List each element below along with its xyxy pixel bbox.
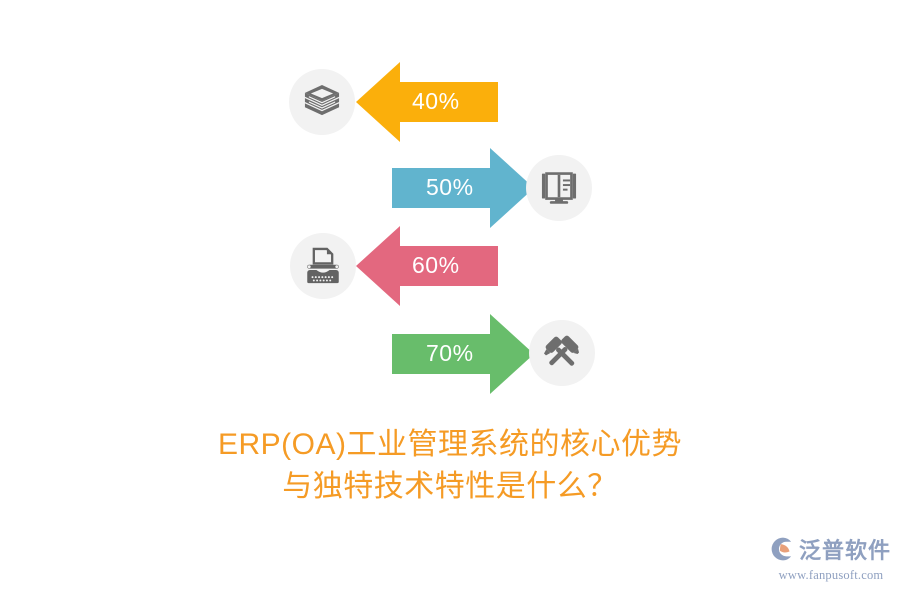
typewriter-icon-badge bbox=[290, 233, 356, 299]
page-title-line-2: 与独特技术特性是什么？ bbox=[0, 466, 900, 508]
watermark-brand-name: 泛普软件 bbox=[799, 540, 891, 562]
crossed-hammers-icon bbox=[540, 331, 584, 375]
arrow-label-70: 70% bbox=[426, 342, 474, 365]
open-book-icon-badge bbox=[526, 155, 592, 221]
arrow-label-50: 50% bbox=[426, 176, 474, 199]
arrow-label-60: 60% bbox=[412, 254, 460, 277]
books-stack-icon-badge bbox=[289, 69, 355, 135]
fanpu-logo-icon bbox=[770, 536, 796, 567]
arrow-70-percent: 70% bbox=[392, 312, 534, 396]
infographic-canvas: 40% 50% bbox=[0, 0, 900, 600]
watermark: 泛普软件 www.fanpusoft.com bbox=[770, 536, 892, 586]
page-title: ERP(OA)工业管理系统的核心优势 与独特技术特性是什么？ bbox=[0, 424, 900, 508]
arrow-60-percent: 60% bbox=[356, 224, 498, 308]
watermark-url: www.fanpusoft.com bbox=[770, 569, 892, 582]
page-title-line-1: ERP(OA)工业管理系统的核心优势 bbox=[0, 424, 900, 466]
arrow-50-percent: 50% bbox=[392, 146, 534, 230]
crossed-hammers-icon-badge bbox=[529, 320, 595, 386]
typewriter-icon bbox=[302, 245, 344, 287]
watermark-brand-row: 泛普软件 bbox=[770, 536, 892, 566]
arrow-label-40: 40% bbox=[412, 90, 460, 113]
arrow-40-percent: 40% bbox=[356, 60, 498, 144]
open-book-icon bbox=[538, 167, 580, 209]
books-stack-icon bbox=[301, 81, 343, 123]
